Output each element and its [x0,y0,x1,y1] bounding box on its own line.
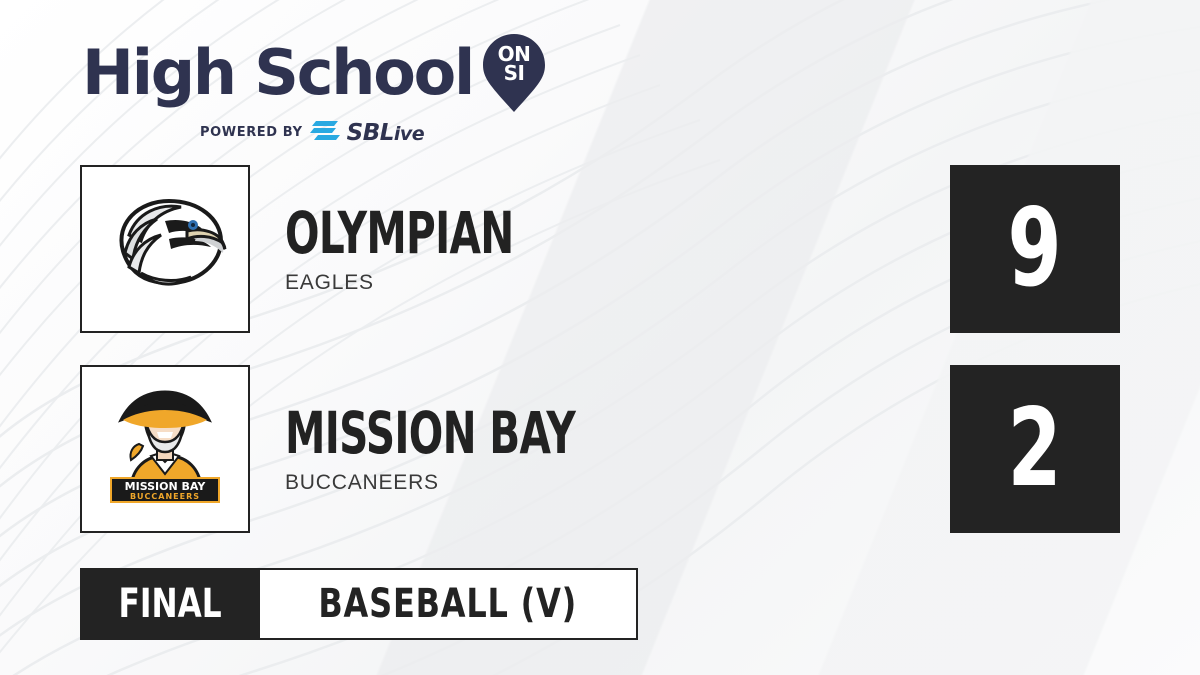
svg-text:BUCCANEERS: BUCCANEERS [130,492,200,501]
powered-by-row: POWERED BY SBLive [200,118,545,147]
team-row: OLYMPIAN EAGLES 9 [80,165,1120,333]
team-row: MISSION BAY BUCCANEERS MISSION BAY BUCCA… [80,365,1120,533]
game-status-bar: FINAL BASEBALL (V) [80,568,638,640]
game-sport-badge: BASEBALL (V) [260,568,637,640]
team-logo-box [80,165,250,333]
team-text-block: MISSION BAY BUCCANEERS [285,365,699,533]
on-si-pin-icon: ON SI [483,34,545,112]
team-mascot: EAGLES [285,271,611,295]
pirate-buccaneer-logo-icon: MISSION BAY BUCCANEERS [105,386,225,513]
team-score: 2 [1008,395,1062,503]
team-score: 9 [1008,195,1062,303]
team-mascot: BUCCANEERS [285,471,699,495]
eagle-head-logo-icon [99,187,231,312]
team-name: OLYMPIAN [285,204,514,262]
team-score-box: 9 [950,165,1120,333]
powered-by-label: POWERED BY [200,125,303,140]
team-text-block: OLYMPIAN EAGLES [285,165,611,333]
brand-header: High School ON SI POWERED BY SB [82,34,545,147]
team-name: MISSION BAY [285,404,575,462]
pin-line-si: SI [483,64,545,83]
sblive-wordmark: SBLive [347,120,425,146]
sblive-wordmark-lower: ive [394,123,424,145]
scoreboard-graphic: High School ON SI POWERED BY SB [0,0,1200,675]
brand-title: High School [82,44,473,103]
team-logo-box: MISSION BAY BUCCANEERS [80,365,250,533]
on-si-pin-label: ON SI [483,45,545,83]
game-status-label: FINAL [119,581,222,627]
game-status-badge: FINAL [80,568,260,640]
team-score-box: 2 [950,365,1120,533]
sblive-mark-icon [310,118,340,147]
brand-logo-row: High School ON SI [82,34,545,112]
game-sport-label: BASEBALL (V) [318,581,577,627]
sblive-wordmark-upper: SBL [347,120,394,146]
